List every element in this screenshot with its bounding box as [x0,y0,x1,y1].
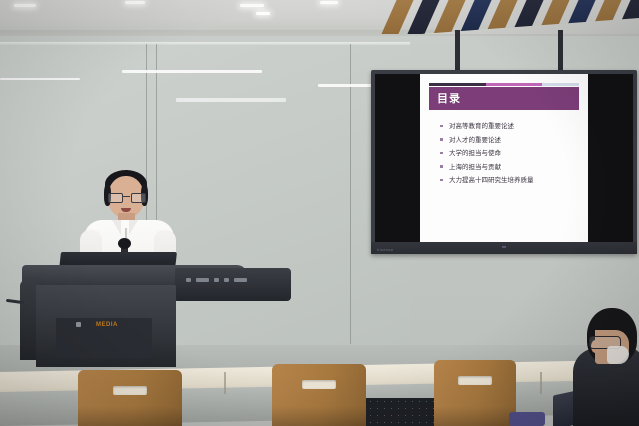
display-panel: 目录 对高等教育的重要论述 对人才的重要论述 大学的担当与使命 上海的担当与贡献… [375,74,633,242]
slide-bullet-list: 对高等教育的重要论述 对人才的重要论述 大学的担当与使命 上海的担当与贡献 大力… [440,122,580,190]
slide-bullet-item: 大学的担当与使命 [440,149,580,157]
chair-handle-slot [302,380,336,389]
display-bottom-bezel [371,242,637,254]
slide-bullet-item: 对高等教育的重要论述 [440,122,580,130]
chair[interactable] [272,364,366,426]
chair[interactable] [434,360,516,426]
slide-title-band: 目录 [429,87,579,110]
lecture-hall-scene: 目录 对高等教育的重要论述 对人才的重要论述 大学的担当与使命 上海的担当与贡献… [0,0,639,426]
display-mount-bar-left [455,30,460,72]
presenter-glasses-icon [108,193,144,201]
slide-bullet-item: 大力提高十四研究生培养质量 [440,176,580,184]
display-mount-bar-right [558,30,563,72]
display-brand-logo: hisense [377,247,394,252]
ceiling-light-4 [256,12,270,15]
whiteboard-glare-1 [0,78,80,80]
slide-title: 目录 [437,92,461,105]
presenter-collar-left [112,220,121,235]
lectern-control-buttons[interactable] [186,277,276,282]
lectern-button-2[interactable] [196,278,209,282]
lectern-button-5[interactable] [234,278,247,282]
chair[interactable] [78,370,182,426]
ceiling-light-3 [240,4,264,7]
screen-letterbox: 目录 对高等教育的重要论述 对人才的重要论述 大学的担当与使命 上海的担当与贡献… [375,74,633,242]
presentation-slide: 目录 对高等教育的重要论述 对人才的重要论述 大学的担当与使命 上海的担当与贡献… [420,74,588,242]
ceiling-slats [379,0,639,34]
ceiling-light-1 [14,4,36,7]
wall-display[interactable]: 目录 对高等教育的重要论述 对人才的重要论述 大学的担当与使命 上海的担当与贡献… [371,70,637,254]
lectern-logo-text: MEDIA [96,322,118,328]
presenter-collar-right [129,220,138,235]
ceiling-light-5 [320,1,338,4]
lectern-button-1[interactable] [186,278,191,282]
whiteboard-top-edge [0,42,410,45]
seated-attendee [571,296,639,426]
ceiling-light-2 [125,1,145,4]
slide-bullet-item: 对人才的重要论述 [440,136,580,144]
accent-segment-magenta [486,83,542,86]
desk-seam-2 [540,372,542,394]
lectern-badge-icon [76,322,81,327]
attendee-item-purple [509,412,545,426]
desk-seam-1 [224,372,226,394]
lectern-button-3[interactable] [214,278,219,282]
chair-handle-slot [113,386,147,395]
attendee-face-mask [607,346,629,364]
microphone-icon [118,238,131,249]
accent-segment-dark-purple [429,83,486,86]
whiteboard-glare-2 [122,70,262,73]
display-indicator-icon [502,246,506,248]
whiteboard-glare-3 [176,98,286,102]
slide-accent-bar [429,83,579,86]
accent-segment-lavender [542,83,580,86]
chair-handle-slot [458,376,492,385]
lectern-button-4[interactable] [224,278,229,282]
slide-bullet-item: 上海的担当与贡献 [440,163,580,171]
lectern-side-panel[interactable] [175,268,291,301]
whiteboard-seam-3 [350,44,351,344]
